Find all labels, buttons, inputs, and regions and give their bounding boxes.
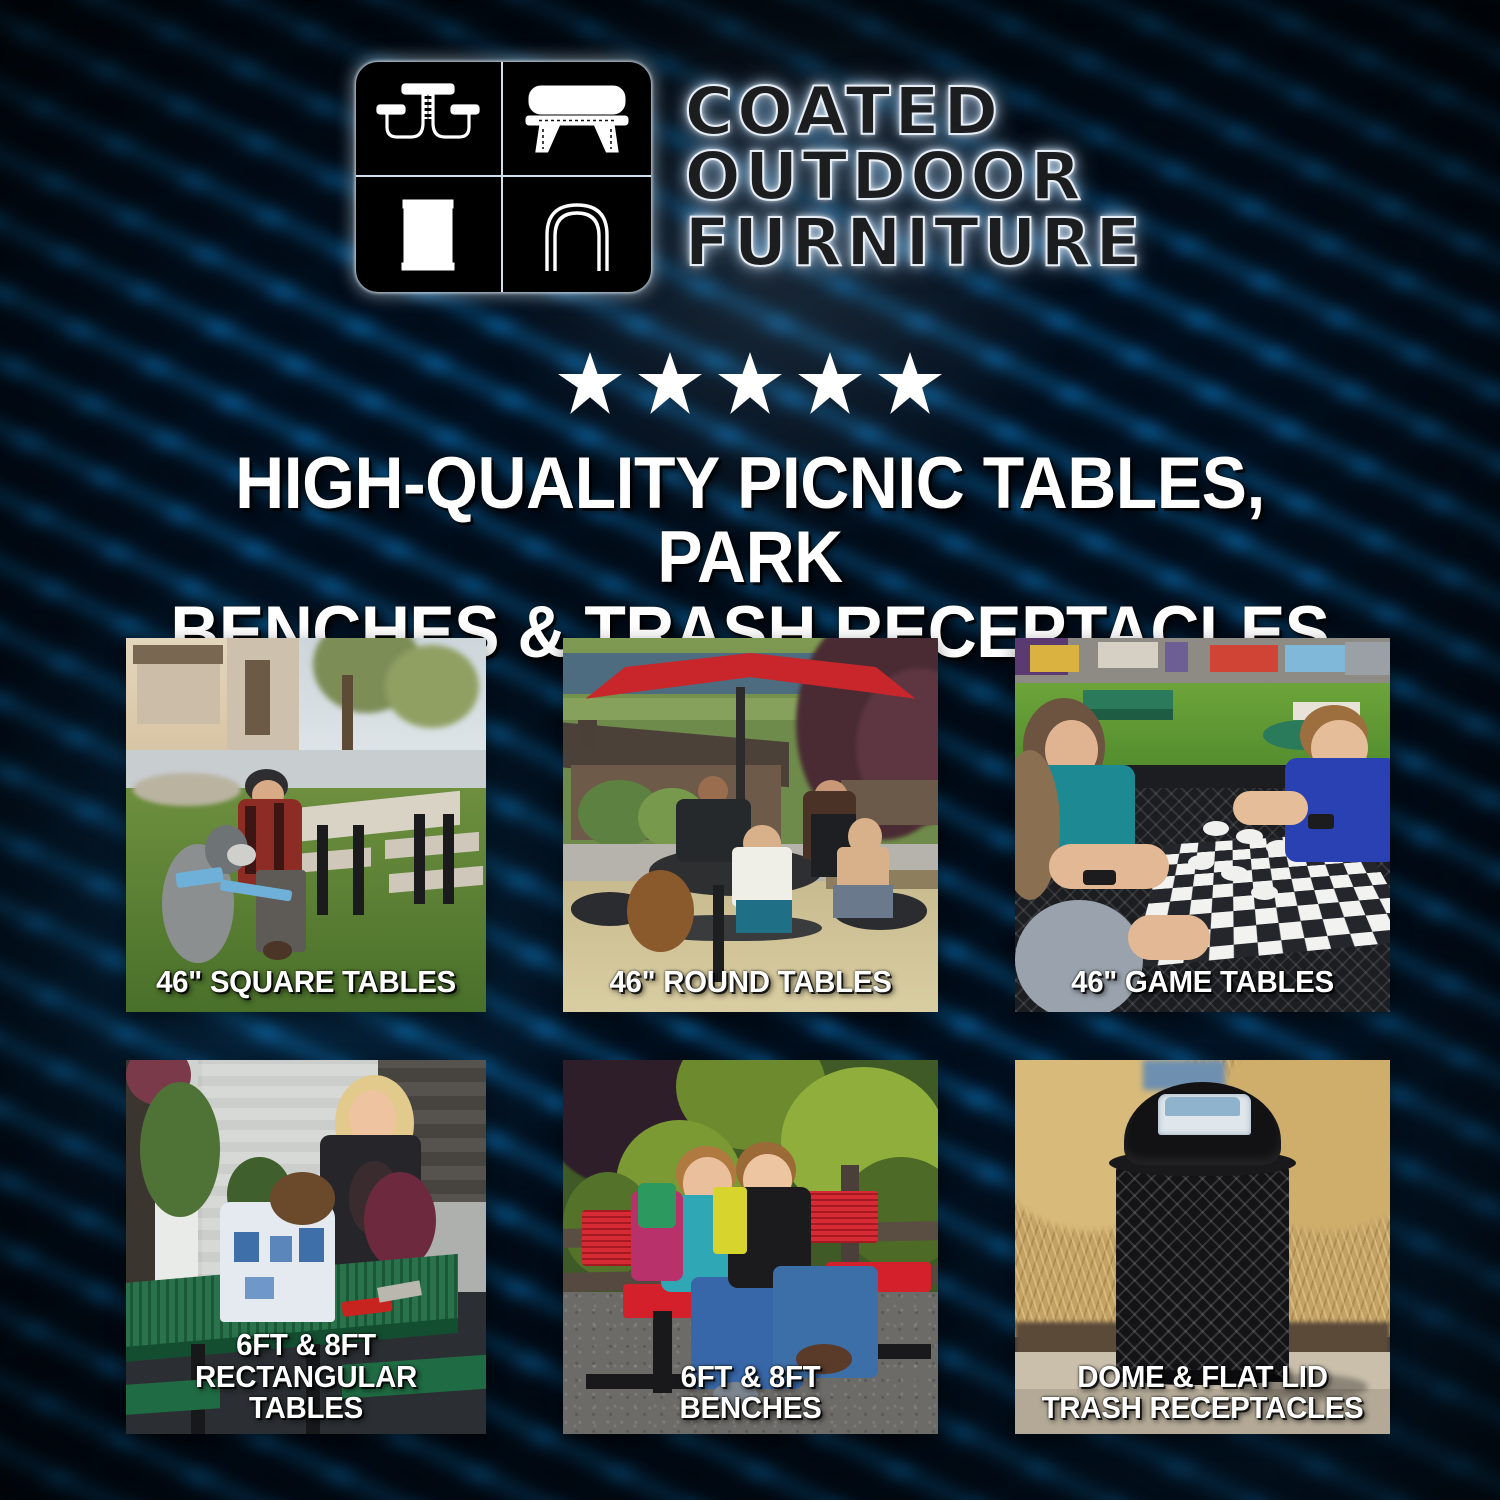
trash-receptacle-icon (356, 177, 504, 292)
photo-round-tables (563, 638, 938, 1012)
product-trash-receptacles[interactable]: DOME & FLAT LID TRASH RECEPTACLES (1015, 1060, 1390, 1434)
caption-line-1: 6FT & 8FT (135, 1329, 477, 1361)
product-square-tables[interactable]: 46" SQUARE TABLES (126, 638, 486, 1012)
photo-square-tables (126, 638, 486, 1012)
star-rating (0, 352, 1500, 414)
product-benches[interactable]: 6FT & 8FT BENCHES (563, 1060, 938, 1434)
caption: 46" SQUARE TABLES (126, 966, 486, 998)
product-grid: 46" SQUARE TABLES (126, 638, 1376, 1434)
star-icon (878, 352, 942, 414)
picnic-table-icon (356, 62, 504, 177)
caption-line-1: 46" ROUND TABLES (572, 966, 928, 998)
park-bench-icon (503, 62, 651, 177)
company-logo[interactable] (356, 62, 651, 292)
caption-line-1: 46" GAME TABLES (1024, 966, 1380, 998)
caption: DOME & FLAT LID TRASH RECEPTACLES (1015, 1361, 1390, 1424)
caption: 6FT & 8FT RECTANGULAR TABLES (126, 1329, 486, 1424)
star-icon (638, 352, 702, 414)
product-rectangular-tables[interactable]: 6FT & 8FT RECTANGULAR TABLES (126, 1060, 486, 1434)
company-wordmark: COATED OUTDOOR FURNITURE (685, 80, 1145, 274)
caption: 46" ROUND TABLES (563, 966, 938, 998)
star-icon (798, 352, 862, 414)
caption-line-2: RECTANGULAR TABLES (135, 1361, 477, 1424)
product-round-tables[interactable]: 46" ROUND TABLES (563, 638, 938, 1012)
caption: 6FT & 8FT BENCHES (563, 1361, 938, 1424)
caption-line-2: BENCHES (572, 1392, 928, 1424)
arch-bike-rack-icon (503, 177, 651, 292)
wordmark-line-2: OUTDOOR (685, 145, 1145, 208)
product-game-tables[interactable]: 46" GAME TABLES (1015, 638, 1390, 1012)
photo-game-tables (1015, 638, 1390, 1012)
headline-line-1: HIGH-QUALITY PICNIC TABLES, PARK (136, 447, 1364, 596)
caption: 46" GAME TABLES (1015, 966, 1390, 998)
caption-line-1: 46" SQUARE TABLES (135, 966, 477, 998)
wordmark-line-3: FURNITURE (685, 211, 1145, 274)
brand-header: COATED OUTDOOR FURNITURE (0, 62, 1500, 292)
star-icon (558, 352, 622, 414)
marketing-poster: COATED OUTDOOR FURNITURE HIGH-QUALITY PI… (0, 0, 1500, 1500)
caption-line-1: 6FT & 8FT (572, 1361, 928, 1393)
wordmark-line-1: COATED (685, 80, 1145, 143)
star-icon (718, 352, 782, 414)
caption-line-2: TRASH RECEPTACLES (1024, 1392, 1380, 1424)
caption-line-1: DOME & FLAT LID (1024, 1361, 1380, 1393)
page-title: HIGH-QUALITY PICNIC TABLES, PARK BENCHES… (90, 447, 1410, 670)
